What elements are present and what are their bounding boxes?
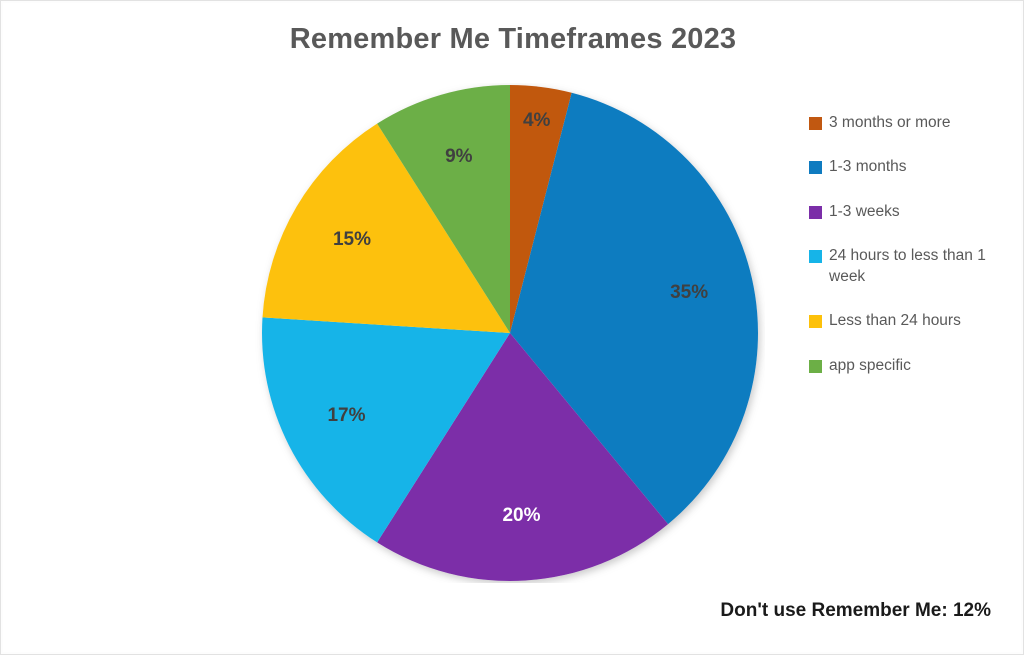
- legend-item-label: app specific: [829, 356, 911, 376]
- legend-swatch-icon: [809, 250, 822, 263]
- chart-frame: Remember Me Timeframes 2023 4%35%20%17%1…: [0, 0, 1024, 655]
- legend-item[interactable]: app specific: [809, 356, 1015, 376]
- legend-swatch-icon: [809, 360, 822, 373]
- footer-note: Don't use Remember Me: 12%: [720, 600, 991, 622]
- legend-swatch-icon: [809, 315, 822, 328]
- pie-svg: [255, 83, 765, 583]
- legend-item-label: 24 hours to less than 1 week: [829, 246, 1015, 287]
- legend-item-label: 1-3 months: [829, 157, 907, 177]
- legend-item[interactable]: Less than 24 hours: [809, 311, 1015, 331]
- legend-item-label: 1-3 weeks: [829, 202, 900, 222]
- chart-title: Remember Me Timeframes 2023: [1, 23, 1024, 56]
- legend: 3 months or more1-3 months1-3 weeks24 ho…: [809, 113, 1015, 400]
- legend-item-label: Less than 24 hours: [829, 311, 961, 331]
- legend-item-label: 3 months or more: [829, 113, 950, 133]
- legend-item[interactable]: 3 months or more: [809, 113, 1015, 133]
- legend-item[interactable]: 1-3 months: [809, 157, 1015, 177]
- legend-swatch-icon: [809, 117, 822, 130]
- legend-item[interactable]: 24 hours to less than 1 week: [809, 246, 1015, 287]
- legend-swatch-icon: [809, 206, 822, 219]
- pie-chart: 4%35%20%17%15%9%: [255, 83, 765, 583]
- legend-swatch-icon: [809, 161, 822, 174]
- legend-item[interactable]: 1-3 weeks: [809, 202, 1015, 222]
